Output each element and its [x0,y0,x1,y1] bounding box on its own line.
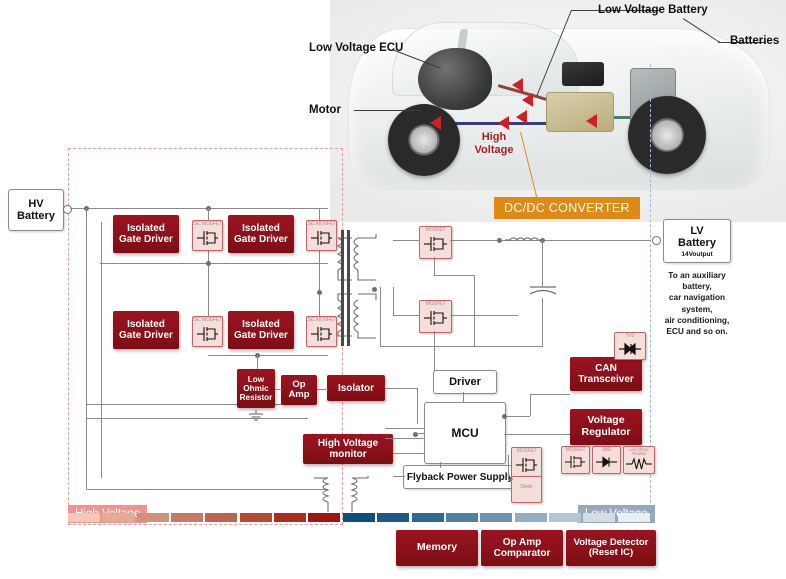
wire-mcu-can-1 [504,416,530,417]
legend-segment-hv-2 [137,513,169,522]
wire-left-feedback [86,404,87,490]
flow-arrow-2 [522,93,533,107]
legend-gradient-bar [68,513,652,522]
isolator-block[interactable]: Isolator [327,375,385,401]
tvs-diode-label: TVS [615,334,645,339]
legend-segment-hv-5 [240,513,272,522]
op-amp-block[interactable]: Op Amp [281,375,317,405]
legend-segment-lv-14 [549,513,581,522]
wire-mcu-can-2 [530,394,531,416]
sic-mosfet-1[interactable]: SiC MOSFET [192,220,223,251]
wire-flyback-mosfet-v [508,455,509,480]
voltage-regulator-block[interactable]: Voltage Regulator [570,409,642,445]
diode-flyback[interactable]: Diode [511,476,542,503]
wire-gate-high [434,257,435,275]
legend-segment-lv-12 [480,513,512,522]
legend-segment-hv-3 [171,513,203,522]
wire-shunt-opamp [275,389,282,390]
wire-flyback-in [393,476,405,477]
rear-wheel [628,96,706,174]
mosfet-sync-high-symbol [420,233,451,256]
wire-mcu-can-3 [530,394,570,395]
isolated-gate-driver-2[interactable]: Isolated Gate Driver [228,215,294,253]
mosfet-flyback-symbol [512,454,541,476]
wire-xfmr-center-return [380,287,381,346]
sic-mosfet-3[interactable]: SiC MOSFET [192,316,223,347]
resistor-symbol [624,455,654,473]
mosfet-sync-low-symbol [420,307,451,330]
wire-mcu-vreg [504,434,570,435]
legend-segment-lv-9 [377,513,409,522]
legend-segment-lv-11 [446,513,478,522]
label-low-voltage-battery: Low Voltage Battery [598,4,708,17]
memory-block[interactable]: Memory [396,530,478,566]
flow-arrow-3 [516,110,527,124]
wire-hvmon-rail-2 [86,418,308,419]
wire-lv-out-rail [450,240,650,241]
low-ohmic-resistor-small[interactable]: Low Ohmic Resistor [623,446,655,474]
wire-driver-mcu [463,392,464,402]
isolated-gate-driver-3[interactable]: Isolated Gate Driver [113,311,179,349]
wire-xfmr-mosfet-bot [393,315,420,316]
driver-block[interactable]: Driver [433,370,497,394]
legend-segment-lv-13 [515,513,547,522]
wire-gate-high-h [434,275,474,276]
node-transformer-center [372,287,377,292]
output-inductor [505,230,543,248]
label-batteries: Batteries [730,35,779,48]
lv-battery-subtitle: 14Voutput [681,251,712,258]
mosfet-sync-high[interactable]: MOSFET [419,226,452,259]
isolated-gate-driver-1[interactable]: Isolated Gate Driver [113,215,179,253]
legend-segment-hv-1 [102,513,134,522]
legend-segment-lv-16 [618,513,650,522]
isolated-gate-driver-4[interactable]: Isolated Gate Driver [228,311,294,349]
mosfet-vreg[interactable]: MOSFET [561,446,590,474]
node-hv-3 [206,261,211,266]
diagram-root: Low Voltage Battery Batteries Low Voltag… [0,0,786,579]
wire-mcu-flyback [440,462,441,468]
wire-mcu-in-4 [393,453,425,454]
dcdc-converter-callout: DC/DC CONVERTER [494,197,640,219]
label-high-voltage-flow: High Voltage [466,131,522,156]
mosfet-sync-low[interactable]: MOSFET [419,300,452,333]
flyback-transformer-primary [312,476,344,516]
legend-segment-lv-10 [412,513,444,522]
wire-mcu-in-3 [385,438,425,439]
sic-mosfet-3-symbol [193,323,222,345]
flow-arrow-5 [430,116,441,130]
tvs-diode[interactable]: TVS [614,332,646,360]
wire-isolator-mcu-v [417,388,418,424]
hv-battery-terminal [63,205,72,214]
wire-mcu-in-1 [415,433,425,434]
wire-hv-bottom-rail [208,355,328,356]
lv-battery-terminal [652,236,661,245]
output-capacitor [530,284,556,300]
wire-cap-top [542,240,543,286]
sbd-diode-symbol [593,453,620,471]
front-wheel-hub [410,126,437,153]
wire-hv-mid-rail [100,263,328,264]
legend-segment-hv-6 [274,513,306,522]
ground-symbol [247,410,265,424]
wire-isolator-mcu [385,388,417,389]
wire-hv-top-rail [70,208,328,209]
wire-xfmr-mosfet-top [393,240,420,241]
legend-segment-lv-8 [343,513,375,522]
mosfet-vreg-symbol [562,453,589,471]
wire-flyback-mosfet-h [508,479,513,480]
lv-battery-box[interactable]: LV Battery 14Voutput [663,219,731,263]
tvs-diode-symbol [615,340,645,358]
label-low-voltage-ecu: Low Voltage ECU [309,42,403,55]
wire-lv-return [380,346,543,347]
wire-xfmr-mid [393,287,394,315]
wire-mcu-in-2 [385,428,425,429]
wire-driver-bus-1 [101,222,102,478]
leader-motor [354,110,420,111]
low-voltage-battery-unit [562,62,604,86]
sic-mosfet-1-symbol [193,227,222,249]
legend-segment-hv-7 [308,513,340,522]
transformer-core-1 [341,230,344,346]
legend-segment-hv-0 [68,513,100,522]
front-wheel [388,104,460,176]
flow-arrow-1 [512,78,523,92]
vehicle-photo [330,0,786,222]
node-mcu-can [502,414,507,419]
dcdc-converter-unit [546,92,614,132]
sbd-diode[interactable]: SBD [592,446,621,474]
wire-gate-high-down [474,275,475,346]
high-voltage-monitor-block[interactable]: High Voltage monitor [303,434,393,464]
lv-battery-note: To an auxiliary battery, car navigation … [654,270,740,337]
rear-wheel-hub [652,120,682,150]
flyback-transformer-secondary [342,476,374,516]
mosfet-flyback[interactable]: MOSFET [511,447,542,478]
flow-arrow-4 [498,116,509,130]
hv-battery-box[interactable]: HV Battery [8,189,64,231]
can-transceiver-block[interactable]: CAN Transceiver [570,357,642,391]
diode-flyback-label: Diode [512,485,541,490]
node-hv-4 [317,290,322,295]
motor-assembly [418,48,492,110]
op-amp-comparator-block[interactable]: Op Amp Comparator [481,530,563,566]
flow-arrow-6 [586,114,597,128]
node-lv-1 [497,238,502,243]
legend-segment-hv-4 [205,513,237,522]
wire-cap-bottom [542,298,543,346]
voltage-detector-block[interactable]: Voltage Detector (Reset IC) [566,530,656,566]
flyback-power-supply-block[interactable]: Flyback Power Supply [403,465,517,489]
wire-mosfet-low-out [450,315,518,316]
legend-segment-lv-15 [583,513,615,522]
mcu-block[interactable]: MCU [424,402,506,464]
wire-opamp-isolator [317,389,328,390]
low-ohmic-resistor-block[interactable]: Low Ohmic Resistor [237,369,275,408]
wire-hv-lowest-rail [86,489,328,490]
label-motor: Motor [309,104,341,117]
lv-battery-title: LV Battery [678,225,716,249]
